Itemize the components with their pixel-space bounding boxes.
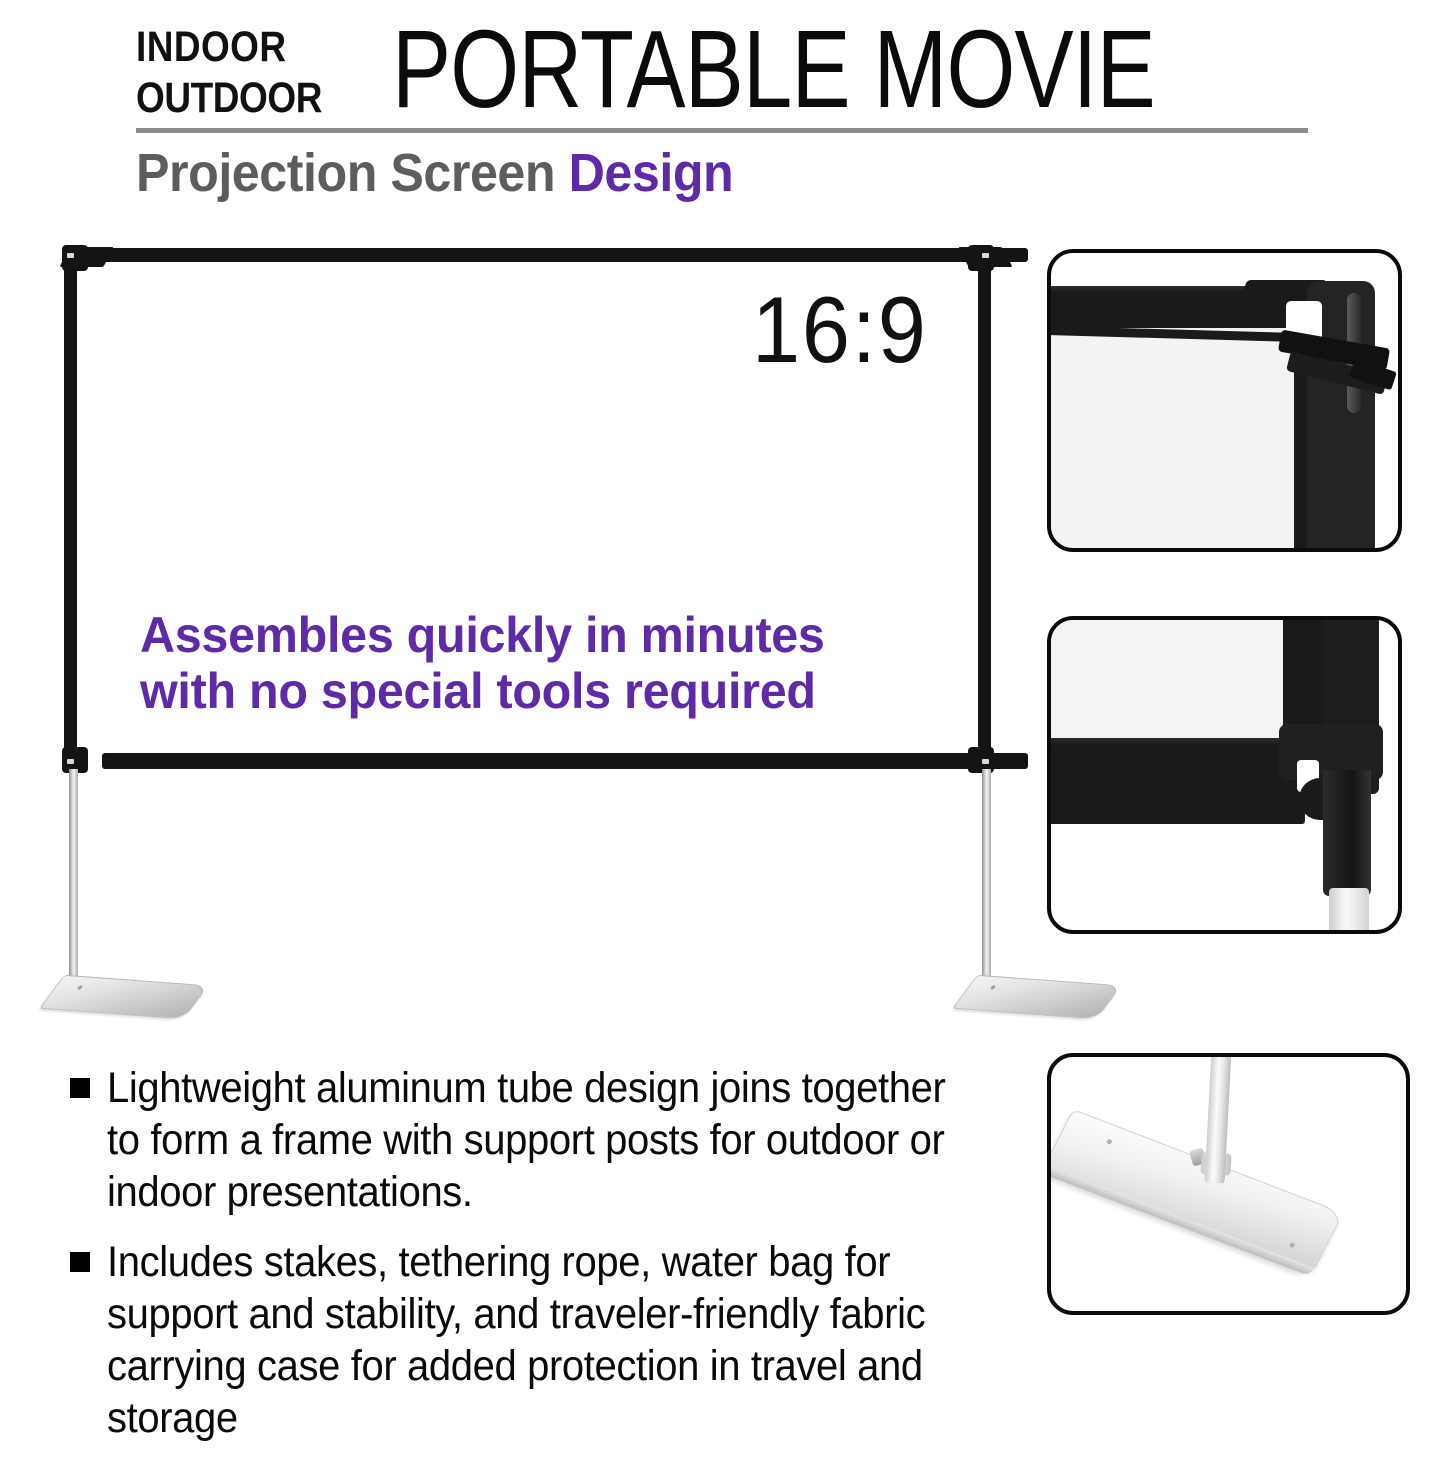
inset-screen-corner-velcro-strap-photo xyxy=(1047,249,1402,552)
screen-fabric-white xyxy=(1047,326,1299,552)
list-item: Lightweight aluminum tube design joins t… xyxy=(70,1062,1035,1218)
support-leg-left xyxy=(69,769,78,999)
inset-frame-tube-connector-joint-photo xyxy=(1047,616,1402,934)
header-subtitle-grey: Projection Screen xyxy=(136,143,569,203)
frame-tube-downpost xyxy=(1323,770,1371,896)
corner-eyelet-icon xyxy=(982,253,989,258)
white-support-leg xyxy=(1329,888,1369,934)
header-subtitle: Projection Screen Design xyxy=(136,141,733,205)
header-divider-rule xyxy=(136,128,1308,133)
base-foot-plate-lip xyxy=(1047,1165,1315,1276)
header-kicker-line-1: INDOOR xyxy=(136,22,368,73)
black-trim-bottom xyxy=(1047,738,1305,824)
header-subtitle-accent: Design xyxy=(569,143,734,203)
page-title: PORTABLE MOVIE xyxy=(392,10,1155,128)
foot-hole-icon xyxy=(1289,1242,1296,1248)
bullet-text: Includes stakes, tethering rope, water b… xyxy=(107,1236,970,1444)
aspect-ratio-label: 16:9 xyxy=(752,283,928,377)
foot-hole-icon xyxy=(77,985,84,989)
support-leg-right xyxy=(982,769,991,999)
square-bullet-icon xyxy=(70,1252,90,1272)
base-foot-right xyxy=(952,975,1122,1020)
inset-2-art xyxy=(1051,620,1398,930)
inset-base-foot-plate-photo xyxy=(1047,1053,1410,1315)
corner-eyelet-icon xyxy=(982,759,989,764)
foot-hole-icon xyxy=(990,985,997,989)
screen-headline-text: Assembles quickly in minutes with no spe… xyxy=(140,607,916,719)
square-bullet-icon xyxy=(70,1078,90,1098)
screen-fabric-white xyxy=(1047,616,1287,738)
frame-corner-top-right xyxy=(968,245,994,271)
foot-hole-icon xyxy=(1106,1139,1113,1145)
frame-rail-top xyxy=(102,248,1028,262)
list-item: Includes stakes, tethering rope, water b… xyxy=(70,1236,1035,1444)
base-foot-left xyxy=(39,975,209,1020)
corner-eyelet-icon xyxy=(67,759,74,764)
frame-rail-right xyxy=(978,248,991,773)
frame-corner-top-left xyxy=(62,245,88,271)
bullet-text: Lightweight aluminum tube design joins t… xyxy=(107,1062,970,1218)
inset-1-art xyxy=(1051,253,1398,548)
header-kicker-line-2: OUTDOOR xyxy=(136,73,368,124)
header: INDOOR OUTDOOR PORTABLE MOVIE Projection… xyxy=(0,0,1445,210)
header-kicker: INDOOR OUTDOOR xyxy=(136,22,368,124)
feature-bullet-list: Lightweight aluminum tube design joins t… xyxy=(70,1062,1035,1462)
frame-rail-bottom xyxy=(102,753,1028,769)
base-foot-plate xyxy=(1047,1109,1344,1277)
inset-3-art xyxy=(1051,1057,1406,1311)
corner-eyelet-icon xyxy=(67,253,74,258)
frame-rail-left xyxy=(64,248,77,773)
